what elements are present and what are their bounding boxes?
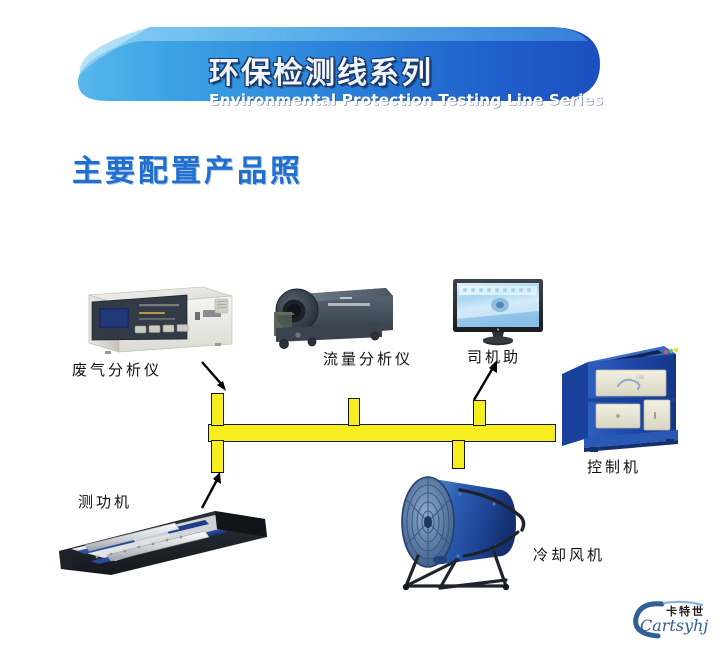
label-gas-analyzer: 废气分析仪 [72,363,162,378]
watermark-logo: 卡特世 Cartsyhj [628,596,720,642]
bus-stub-fan-down [452,440,465,469]
cooling-fan-photo [398,460,548,595]
label-control-cabinet: 控制机 [587,460,641,475]
driver-monitor-photo [452,278,544,346]
arrow-dynamometer-to-bus [196,468,232,512]
label-dynamometer: 测功机 [78,495,132,510]
equipment-gas-analyzer [75,282,235,354]
banner-title-english: Environmental Protection Testing Line Se… [209,93,603,109]
label-flow-analyzer: 流量分析仪 [323,352,413,367]
equipment-flow-analyzer [262,280,397,350]
slide-page: 环保检测线系列 Environmental Protection Testing… [0,0,725,647]
label-cooling-fan: 冷却风机 [533,548,605,563]
flow-analyzer-photo [262,280,397,350]
arrow-bus-to-driver-monitor [466,356,508,404]
page-title: 主要配置产品照 [72,157,303,187]
header-banner: 环保检测线系列 Environmental Protection Testing… [78,27,600,101]
svg-text:CAR: CAR [636,375,645,380]
gas-analyzer-photo [75,282,235,354]
bus-bar-main [208,424,556,442]
bus-stub-flow-up [348,398,360,426]
watermark-text-english: Cartsyhj [640,618,708,634]
arrow-gas-analyzer-to-bus [198,358,238,400]
equipment-driver-monitor [452,278,544,346]
equipment-cooling-fan [398,460,548,595]
banner-title-chinese: 环保检测线系列 [209,59,433,89]
control-cabinet-photo: CAR [558,334,681,454]
equipment-control-cabinet: CAR [558,334,681,454]
